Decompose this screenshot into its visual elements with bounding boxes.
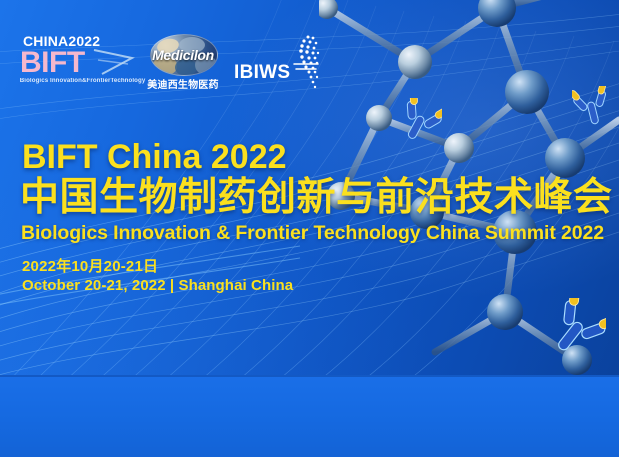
bift-logo[interactable]: CHINA2022 BIFT Biologics Innovation&Fron… xyxy=(20,34,132,92)
event-date-english: October 20-21, 2022 | Shanghai China xyxy=(22,277,293,295)
ibiws-logo[interactable]: IBIWS xyxy=(234,34,320,92)
event-date-chinese: 2022年10月20-21日 xyxy=(22,258,158,276)
ibiws-wordmark: IBIWS xyxy=(234,62,290,84)
bift-logo-tagline: Biologics Innovation&FrontierTechnology xyxy=(20,78,146,84)
page-title-english: BIFT China 2022 xyxy=(22,138,287,176)
medicilon-logo[interactable]: Medicilon 美迪西生物医药 xyxy=(146,34,220,92)
subtitle-english: Biologics Innovation & Frontier Technolo… xyxy=(21,222,604,245)
bift-logo-acronym: BIFT xyxy=(20,47,85,78)
bift-swoosh-icon xyxy=(92,46,136,78)
medicilon-wordmark: Medicilon xyxy=(146,47,220,63)
medicilon-chinese-name: 美迪西生物医药 xyxy=(146,76,220,91)
dna-helix-icon xyxy=(292,34,322,92)
bottom-color-band xyxy=(0,375,619,457)
conference-banner: CHINA2022 BIFT Biologics Innovation&Fron… xyxy=(0,0,619,457)
page-title-chinese: 中国生物制药创新与前沿技术峰会 xyxy=(20,176,613,220)
sponsor-logo-row: CHINA2022 BIFT Biologics Innovation&Fron… xyxy=(20,34,320,92)
